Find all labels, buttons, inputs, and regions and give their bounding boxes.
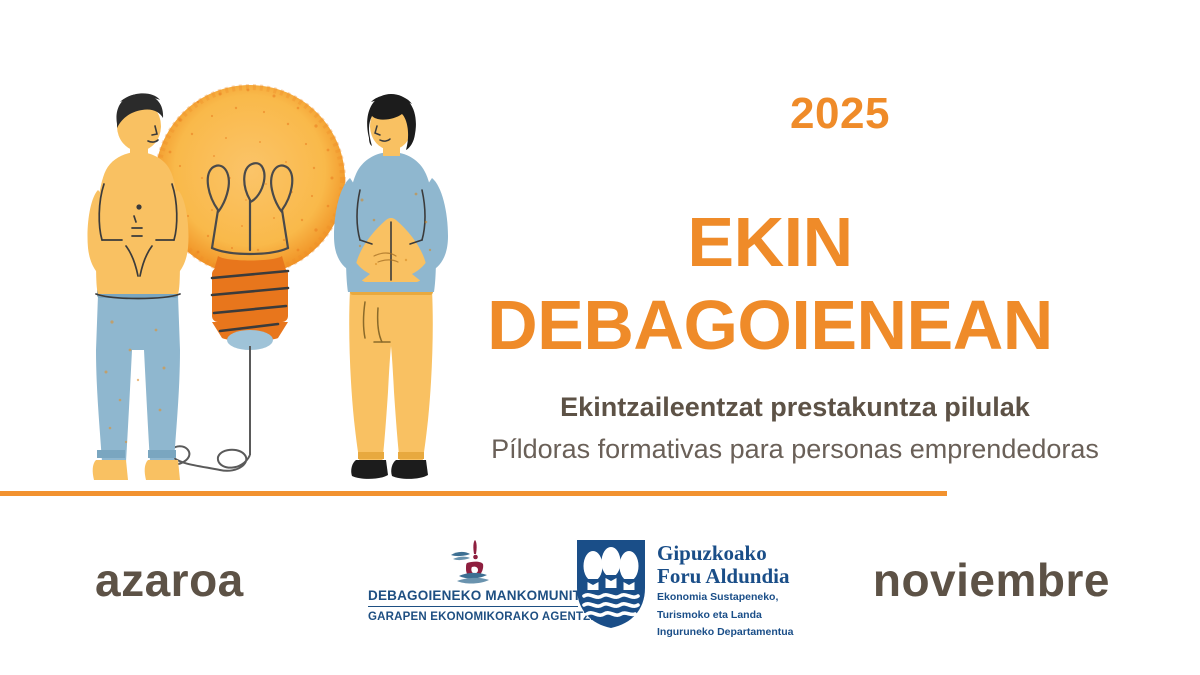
debagoiena-logo-line2: GARAPEN EKONOMIKORAKO AGENTZIA [368,607,578,623]
bulb-base [212,256,288,350]
year-label: 2025 [600,92,1080,136]
gipuzkoa-line1: Gipuzkoako [657,542,794,565]
poster-canvas: 2025 EKIN DEBAGOIENEAN Ekintzaileentzat … [0,0,1200,675]
gipuzkoa-text-block: Gipuzkoako Foru Aldundia Ekonomia Sustap… [657,538,794,639]
gipuzkoa-dept-line1: Ekonomia Sustapeneko, [657,587,794,604]
title-line-1: EKIN [430,207,1110,277]
month-spanish: noviembre [873,553,1110,607]
debagoiena-logo-line1: DEBAGOIENEKO MANKOMUNITATEA [368,588,578,607]
subtitle-basque: Ekintzaileentzat prestakuntza pilulak [430,391,1160,423]
gipuzkoa-line2: Foru Aldundia [657,565,794,588]
orange-divider [0,491,947,496]
title-line-2: DEBAGOIENEAN [430,290,1110,360]
logo-debagoieneko-mankomunitatea: DEBAGOIENEKO MANKOMUNITATEA GARAPEN EKON… [368,536,578,638]
gipuzkoa-shield-icon [575,538,647,630]
gipuzkoa-dept-line3: Inguruneko Departamentua [657,622,794,639]
subtitle-spanish: Píldoras formativas para personas empren… [430,433,1160,465]
logo-gipuzkoako-foru-aldundia: Gipuzkoako Foru Aldundia Ekonomia Sustap… [575,538,805,638]
month-basque: azaroa [95,553,244,607]
gipuzkoa-dept-line2: Turismoko eta Landa [657,605,794,622]
debagoiena-emblem-icon [368,536,578,588]
